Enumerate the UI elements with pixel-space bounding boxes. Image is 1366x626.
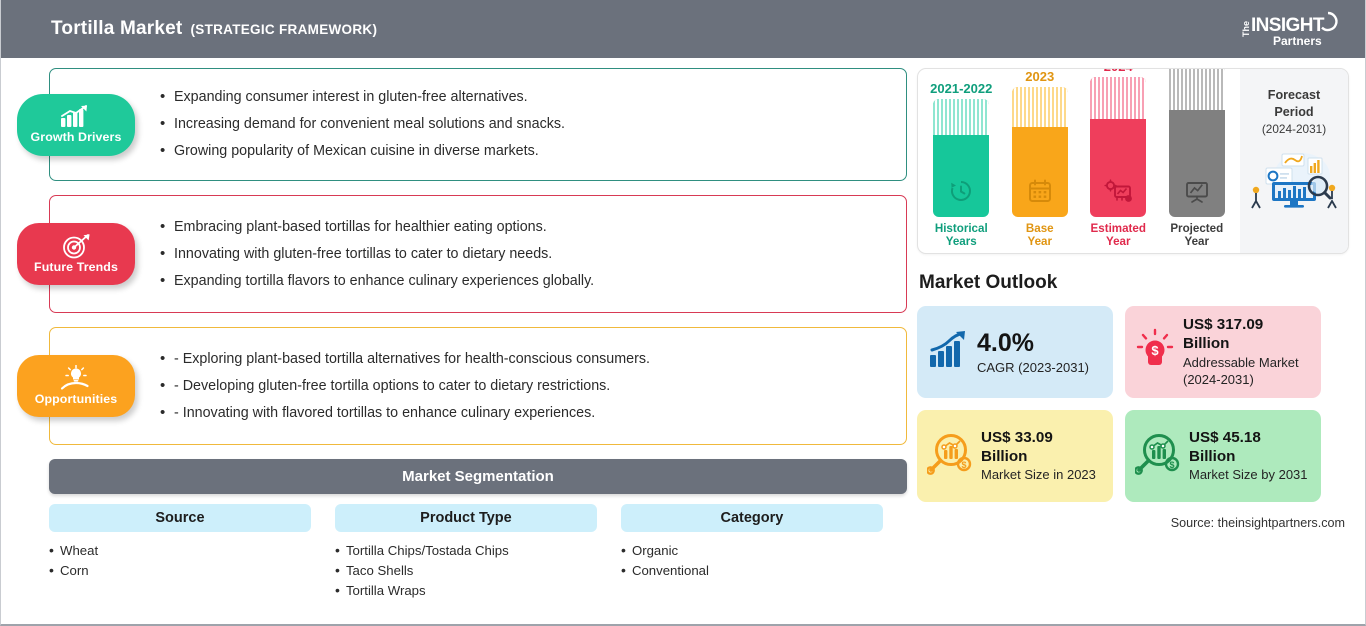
source-attribution: Source: theinsightpartners.com: [917, 516, 1349, 530]
growth-bar-chart-icon: [927, 330, 969, 375]
magnifier-chart-dollar-icon: $: [1135, 433, 1181, 480]
badge-label: Opportunities: [35, 392, 118, 406]
list-item: Corn: [49, 561, 311, 581]
infographic-page: Tortilla Market (STRATEGIC FRAMEWORK) Th…: [0, 0, 1366, 626]
left-column: Growth Drivers Expanding consumer intere…: [17, 68, 907, 624]
segmentation-title: Market Segmentation: [49, 459, 907, 494]
timeline-caption: ProjectedYear: [1170, 222, 1223, 249]
estimate-chart-icon: [1104, 178, 1132, 209]
segmentation-column-header: Category: [621, 504, 883, 532]
kpi-label: Addressable Market (2024-2031): [1183, 355, 1311, 389]
timeline-item-projected: 2031 ProjectedYear: [1168, 68, 1226, 249]
forecast-period-years: (2024-2031): [1262, 122, 1326, 136]
timeline-bar: [1090, 77, 1146, 217]
market-outlook-cards: 4.0% CAGR (2023-2031) $: [917, 306, 1349, 502]
lightbulb-dollar-icon: $: [1135, 328, 1175, 377]
kpi-card-addressable-market: $ US$ 317.09 Billion Addressable Market …: [1125, 306, 1321, 398]
calendar-icon: [1027, 178, 1053, 209]
page-title: Tortilla Market: [51, 18, 182, 40]
timeline-item-historical: 2021-2022 HistoricalYears: [932, 81, 990, 249]
svg-text:$: $: [961, 460, 966, 470]
segmentation-columns: Source Wheat Corn Product Type Tortilla …: [49, 504, 907, 601]
section-opportunities: Opportunities - Exploring plant-based to…: [49, 327, 907, 445]
kpi-card-cagr: 4.0% CAGR (2023-2031): [917, 306, 1113, 398]
bullet-item: Expanding tortilla flavors to enhance cu…: [160, 268, 892, 295]
section-future-trends: Future Trends Embracing plant-based tort…: [49, 195, 907, 313]
timeline-bars: 2021-2022 HistoricalYears: [918, 69, 1240, 253]
target-arrow-icon: [61, 235, 91, 259]
lightbulb-hand-icon: [59, 367, 93, 391]
analytics-illustration-icon: [1246, 148, 1342, 215]
timeline-caption: EstimatedYear: [1091, 222, 1146, 249]
segmentation-column-product-type: Product Type Tortilla Chips/Tostada Chip…: [335, 504, 621, 601]
bullet-item: Expanding consumer interest in gluten-fr…: [160, 84, 892, 111]
future-trends-box: Embracing plant-based tortillas for heal…: [49, 195, 907, 313]
bullet-item: Embracing plant-based tortillas for heal…: [160, 214, 892, 241]
timeline-bar: [1012, 87, 1068, 217]
market-outlook-title: Market Outlook: [919, 272, 1349, 294]
list-item: Taco Shells: [335, 561, 597, 581]
svg-text:The: The: [1241, 21, 1251, 37]
market-segmentation: Market Segmentation Source Wheat Corn Pr…: [49, 459, 907, 601]
page-header: Tortilla Market (STRATEGIC FRAMEWORK) Th…: [1, 0, 1365, 58]
timeline-item-base: 2023: [1011, 69, 1069, 249]
kpi-card-market-size-2023: $ US$ 33.09 Billion Market Size in 2023: [917, 410, 1113, 502]
bullet-item: Increasing demand for convenient meal so…: [160, 111, 892, 138]
kpi-label: Market Size by 2031: [1189, 467, 1311, 484]
badge-future-trends[interactable]: Future Trends: [17, 223, 135, 285]
magnifier-chart-dollar-icon: $: [927, 433, 973, 480]
right-column: 2021-2022 HistoricalYears: [907, 68, 1349, 624]
opportunities-box: - Exploring plant-based tortilla alterna…: [49, 327, 907, 445]
kpi-label: Market Size in 2023: [981, 467, 1103, 484]
bullet-item: - Exploring plant-based tortilla alterna…: [160, 346, 892, 373]
svg-text:$: $: [1169, 460, 1174, 470]
forecast-period-title: ForecastPeriod: [1268, 87, 1321, 120]
timeline-year: 2021-2022: [930, 81, 992, 96]
kpi-value: US$ 33.09 Billion: [981, 429, 1103, 467]
bullet-item: - Innovating with flavored tortillas to …: [160, 400, 892, 427]
page-subtitle: (STRATEGIC FRAMEWORK): [190, 22, 377, 37]
kpi-card-market-size-2031: $ US$ 45.18 Billion Market Size by 2031: [1125, 410, 1321, 502]
segmentation-column-source: Source Wheat Corn: [49, 504, 335, 601]
bar-chart-arrow-icon: [59, 105, 93, 129]
bullet-item: - Developing gluten-free tortilla option…: [160, 373, 892, 400]
segmentation-column-header: Product Type: [335, 504, 597, 532]
kpi-value: 4.0%: [977, 328, 1103, 359]
page-body: Growth Drivers Expanding consumer intere…: [1, 58, 1365, 624]
kpi-label: CAGR (2023-2031): [977, 360, 1103, 377]
svg-text:$: $: [1151, 343, 1159, 358]
kpi-text: US$ 317.09 Billion Addressable Market (2…: [1183, 316, 1311, 388]
list-item: Tortilla Wraps: [335, 581, 597, 601]
forecast-period-box: ForecastPeriod (2024-2031): [1240, 69, 1348, 253]
kpi-value: US$ 317.09 Billion: [1183, 316, 1311, 354]
bar-stripes: [1090, 77, 1146, 119]
segmentation-column-header: Source: [49, 504, 311, 532]
clock-history-icon: [948, 178, 974, 209]
timeline-caption: HistoricalYears: [935, 222, 988, 249]
list-item: Wheat: [49, 541, 311, 561]
bar-stripes: [933, 99, 989, 135]
insight-partners-logo: The INSIGHT Partners: [1233, 7, 1345, 51]
list-item: Conventional: [621, 561, 883, 581]
svg-text:INSIGHT: INSIGHT: [1251, 15, 1325, 36]
kpi-value: US$ 45.18 Billion: [1189, 429, 1311, 467]
bar-stripes: [1169, 68, 1225, 110]
badge-opportunities[interactable]: Opportunities: [17, 355, 135, 417]
badge-label: Growth Drivers: [31, 130, 122, 144]
growth-drivers-box: Expanding consumer interest in gluten-fr…: [49, 68, 907, 181]
section-growth-drivers: Growth Drivers Expanding consumer intere…: [49, 68, 907, 181]
kpi-text: US$ 33.09 Billion Market Size in 2023: [981, 429, 1103, 485]
kpi-text: US$ 45.18 Billion Market Size by 2031: [1189, 429, 1311, 485]
list-item: Organic: [621, 541, 883, 561]
badge-growth-drivers[interactable]: Growth Drivers: [17, 94, 135, 156]
svg-text:Partners: Partners: [1273, 34, 1322, 48]
bullet-item: Growing popularity of Mexican cuisine in…: [160, 138, 892, 165]
timeline-year: 2023: [1025, 69, 1054, 84]
timeline-bar: [933, 99, 989, 217]
timeline-item-estimated: 2024: [1089, 68, 1147, 249]
list-item: Tortilla Chips/Tostada Chips: [335, 541, 597, 561]
bar-stripes: [1012, 87, 1068, 127]
presentation-chart-icon: [1183, 178, 1211, 209]
bullet-item: Innovating with gluten-free tortillas to…: [160, 241, 892, 268]
badge-label: Future Trends: [34, 260, 118, 274]
forecast-timeline-panel: 2021-2022 HistoricalYears: [917, 68, 1349, 254]
timeline-year: 2024: [1104, 68, 1133, 74]
timeline-caption: BaseYear: [1026, 222, 1054, 249]
timeline-bar: [1169, 68, 1225, 217]
segmentation-column-category: Category Organic Conventional: [621, 504, 907, 601]
kpi-text: 4.0% CAGR (2023-2031): [977, 328, 1103, 377]
